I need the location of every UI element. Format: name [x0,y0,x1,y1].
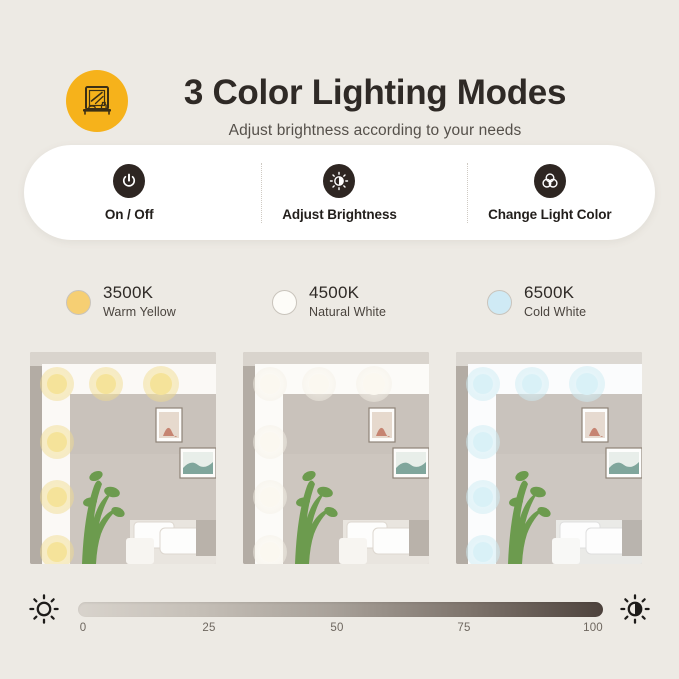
color-temperature-6500k[interactable]: 6500K Cold White [487,282,586,330]
feature-adjust-brightness[interactable]: Adjust Brightness [234,145,444,240]
feature-on-off[interactable]: On / Off [24,145,234,240]
feature-change-light-color[interactable]: Change Light Color [445,145,655,240]
vanity-mirror-icon [66,70,128,132]
temperature-name: Natural White [309,303,386,321]
infographic-root: 3 Color Lighting Modes Adjust brightness… [0,0,679,679]
power-icon [113,164,145,198]
page-subtitle: Adjust brightness according to your need… [140,120,610,142]
temperature-kelvin: 3500K [103,282,176,303]
features-card: On / Off [24,145,655,240]
page-title: 3 Color Lighting Modes [140,70,610,116]
swatch-natural-white [272,290,297,315]
temperature-name: Warm Yellow [103,303,176,321]
color-temperature-4500k[interactable]: 4500K Natural White [272,282,386,330]
feature-label: On / Off [105,207,154,222]
feature-label: Change Light Color [488,207,611,222]
temperature-kelvin: 6500K [524,282,586,303]
slider-tick: 100 [583,622,603,634]
swatch-cold-white [487,290,512,315]
photo-cold-white [456,352,642,564]
sun-bright-icon [618,592,652,626]
photo-row [0,352,679,564]
color-temperature-3500k[interactable]: 3500K Warm Yellow [66,282,176,330]
photo-warm-yellow [30,352,216,564]
temperature-name: Cold White [524,303,586,321]
slider-tick: 25 [202,622,215,634]
feature-label: Adjust Brightness [282,207,397,222]
brightness-icon [323,164,355,198]
header: 3 Color Lighting Modes Adjust brightness… [0,32,679,122]
slider-ticks: 0 25 50 75 100 [0,622,679,640]
slider-tick: 75 [457,622,470,634]
slider-tick: 0 [80,622,87,634]
feature-divider [261,163,262,223]
color-temperature-row: 3500K Warm Yellow 4500K Natural White 65… [0,282,679,330]
brightness-track[interactable] [78,602,603,617]
temperature-kelvin: 4500K [309,282,386,303]
sun-dim-icon [27,592,61,626]
photo-natural-white [243,352,429,564]
feature-divider [467,163,468,223]
slider-tick: 50 [330,622,343,634]
swatch-warm-yellow [66,290,91,315]
color-rings-icon [534,164,566,198]
brightness-slider-row: 0 25 50 75 100 [0,592,679,642]
